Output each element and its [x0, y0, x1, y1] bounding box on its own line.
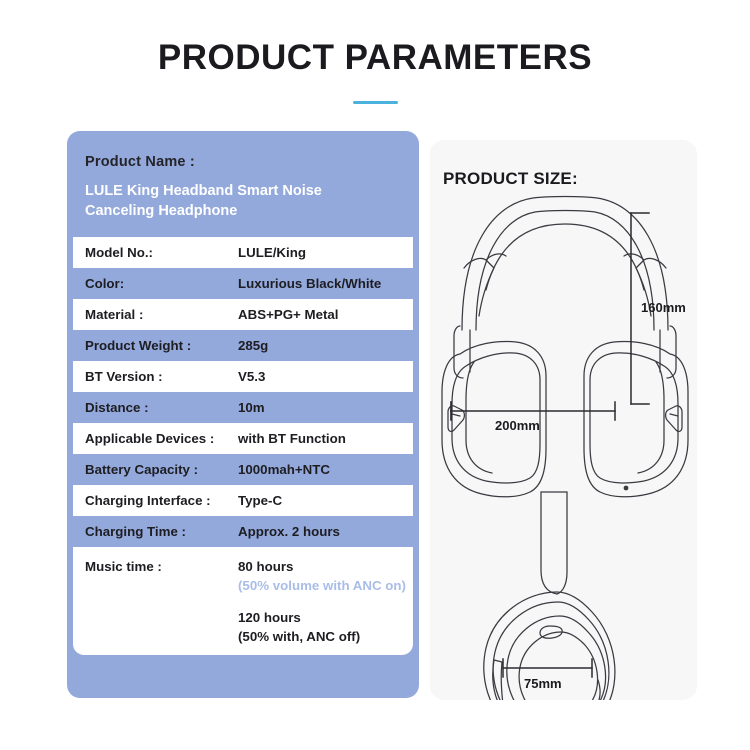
spec-value: 10m — [238, 400, 419, 415]
product-size-diagram — [430, 140, 697, 700]
product-parameters-page: PRODUCT PARAMETERS Product Name : LULE K… — [0, 0, 750, 750]
spec-value: Luxurious Black/White — [238, 276, 419, 291]
dimension-label-height: 160mm — [641, 300, 686, 315]
product-name-label: Product Name : — [85, 154, 419, 170]
spec-key: Color: — [85, 276, 238, 291]
spec-value: with BT Function — [238, 431, 413, 446]
title-accent-rule — [353, 101, 398, 104]
table-row: Color: Luxurious Black/White — [67, 268, 419, 299]
spec-value: V5.3 — [238, 369, 413, 384]
spec-value: 1000mah+NTC — [238, 462, 419, 477]
dimension-line-depth — [503, 659, 592, 677]
table-row-music-time: Music time : 80 hours (50% volume with A… — [73, 547, 413, 655]
table-row: Material : ABS+PG+ Metal — [73, 299, 413, 330]
spec-value: Approx. 2 hours — [238, 524, 419, 539]
table-row: Charging Time : Approx. 2 hours — [67, 516, 419, 547]
headphone-front-view — [442, 197, 688, 497]
spec-key: BT Version : — [85, 369, 238, 384]
spec-key: Product Weight : — [85, 338, 238, 353]
spec-value: ABS+PG+ Metal — [238, 307, 413, 322]
music-time-secondary: 120 hours — [238, 609, 413, 628]
table-row: Product Weight : 285g — [67, 330, 419, 361]
spec-key: Applicable Devices : — [85, 431, 238, 446]
table-row: Model No.: LULE/King — [73, 237, 413, 268]
spec-key: Distance : — [85, 400, 238, 415]
music-time-secondary-note: (50% with, ANC off) — [238, 628, 413, 647]
spec-value: 80 hours (50% volume with ANC on) 120 ho… — [238, 558, 413, 647]
table-row: Charging Interface : Type-C — [73, 485, 413, 516]
table-row: Distance : 10m — [67, 392, 419, 423]
spec-key: Music time : — [85, 558, 238, 574]
page-title: PRODUCT PARAMETERS — [0, 38, 750, 78]
product-name-value: LULE King Headband Smart Noise Canceling… — [85, 181, 385, 221]
table-row: Battery Capacity : 1000mah+NTC — [67, 454, 419, 485]
table-row: BT Version : V5.3 — [73, 361, 413, 392]
music-time-primary-note: (50% volume with ANC on) — [238, 577, 413, 596]
spec-key: Charging Time : — [85, 524, 238, 539]
spec-key: Model No.: — [85, 245, 238, 260]
spec-value: 285g — [238, 338, 419, 353]
spec-key: Battery Capacity : — [85, 462, 238, 477]
spec-key: Charging Interface : — [85, 493, 238, 508]
music-time-primary: 80 hours — [238, 558, 413, 577]
dimension-label-width: 200mm — [495, 418, 540, 433]
spec-value: Type-C — [238, 493, 413, 508]
spec-value: LULE/King — [238, 245, 413, 260]
spec-table: Model No.: LULE/King Color: Luxurious Bl… — [67, 237, 419, 655]
product-name-block: Product Name : LULE King Headband Smart … — [67, 131, 419, 237]
spec-key: Material : — [85, 307, 238, 322]
spec-panel: Product Name : LULE King Headband Smart … — [67, 131, 419, 698]
dimension-label-depth: 75mm — [524, 676, 562, 691]
table-row: Applicable Devices : with BT Function — [73, 423, 413, 454]
